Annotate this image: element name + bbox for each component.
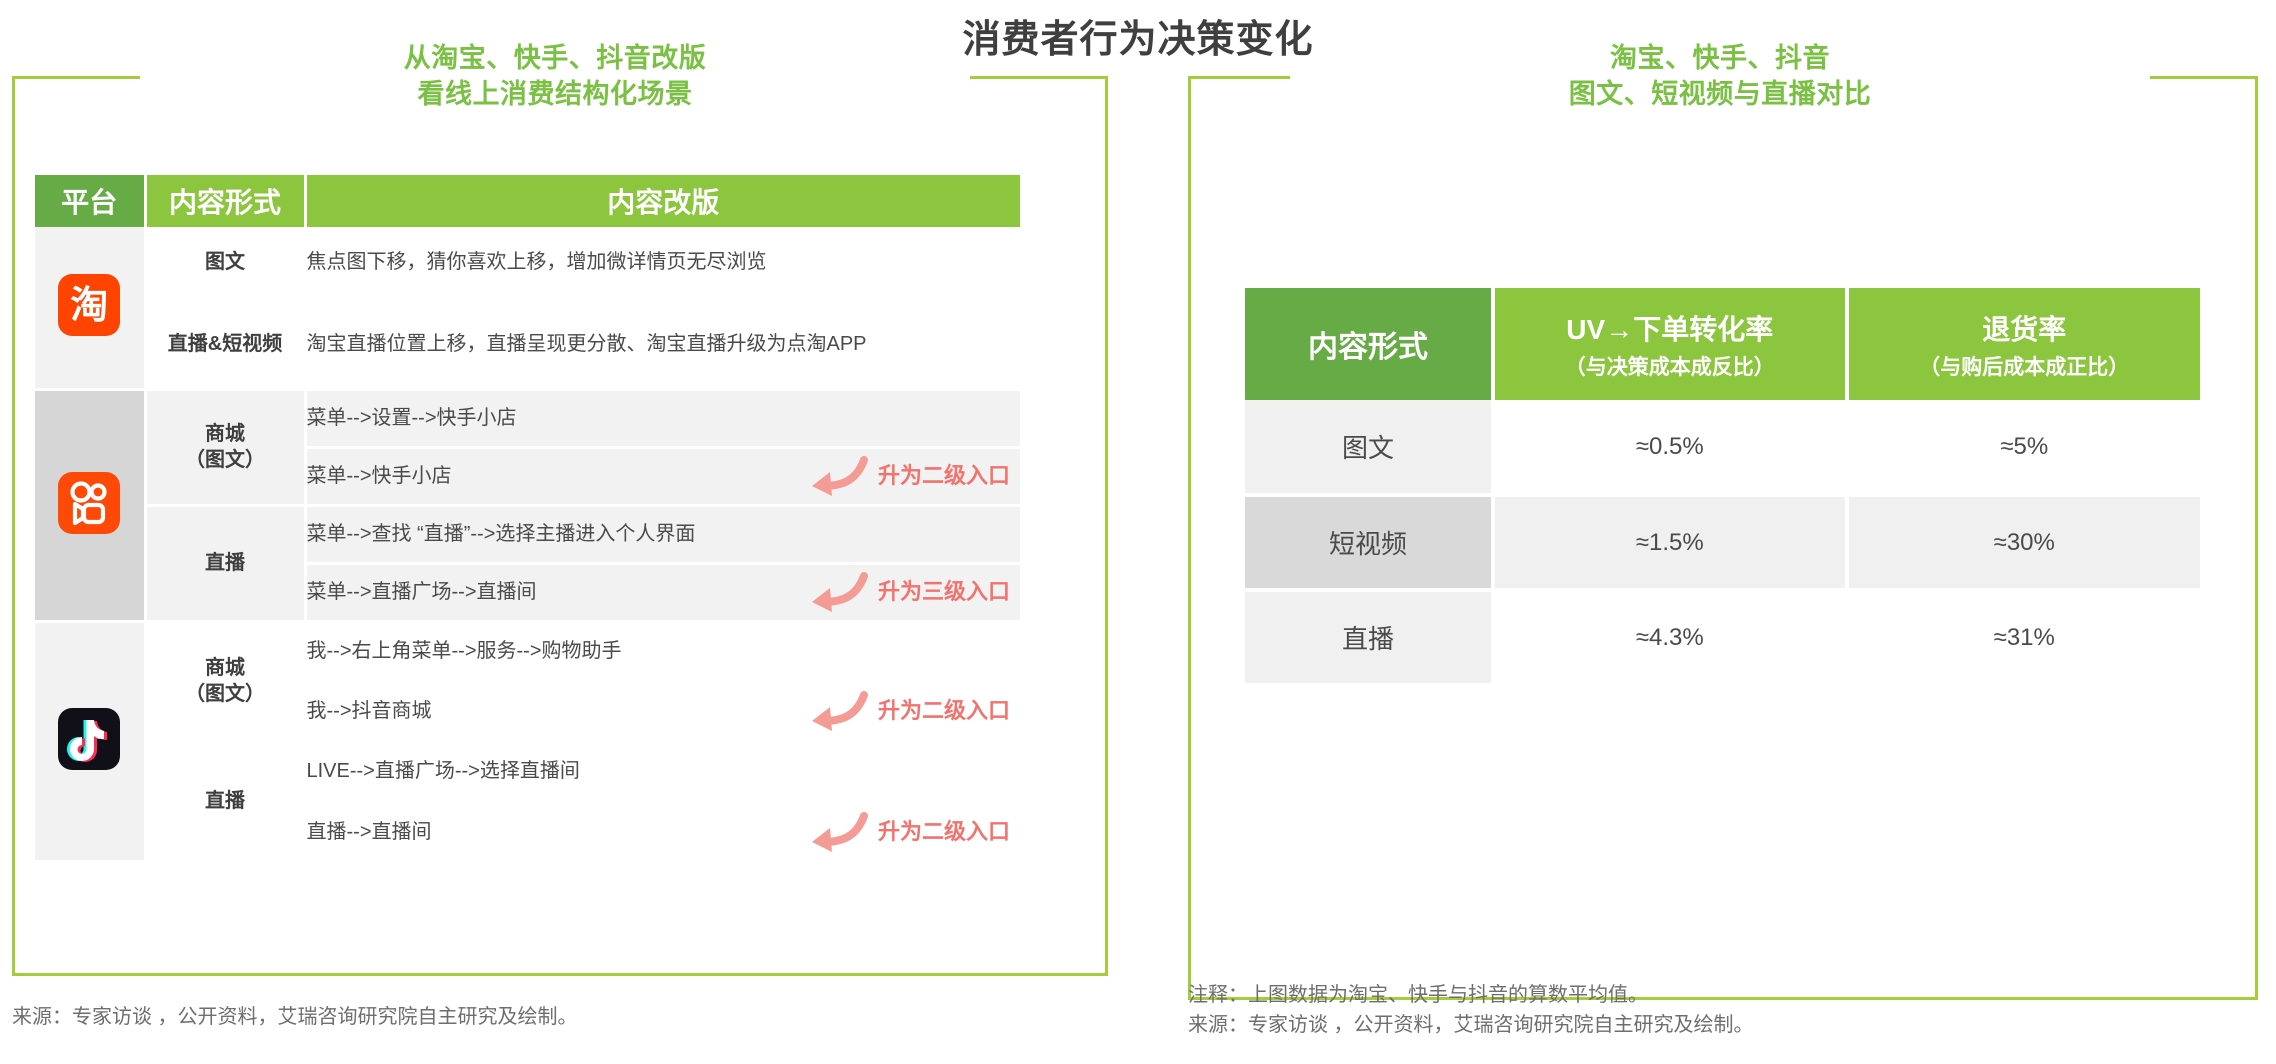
upgrade-annotation-label: 升为三级入口 (878, 577, 1010, 607)
category-cell: 直播 (1245, 590, 1493, 685)
upgrade-annotation: 升为三级入口 (806, 572, 1010, 612)
taobao-icon: 淘 (58, 274, 120, 336)
revision-text: 菜单-->快手小店 (307, 465, 452, 487)
douyin-icon-glyph (58, 708, 120, 770)
platform-cell-douyin (35, 621, 145, 861)
curved-left-arrow-icon (806, 691, 868, 731)
curved-left-arrow-icon (806, 456, 868, 496)
right-panel-footer: 注释：上图数据为淘宝、快手与抖音的算数平均值。 来源：专家访谈 ，公开资料，艾瑞… (1188, 980, 1754, 1040)
content-form-cell: 商城 （图文） (145, 621, 305, 741)
column-header-return-rate-line2: （与购后成本成正比） (1849, 351, 2201, 381)
content-form-cell: 图文 (145, 227, 305, 299)
column-header-content-form: 内容形式 (1245, 288, 1493, 400)
slide-root: 消费者行为决策变化 从淘宝、快手、抖音改版 看线上消费结构化场景 平台 内容形式… (0, 0, 2276, 1064)
curved-left-arrow-icon (806, 812, 868, 852)
conversion-value-cell: ≈4.3% (1493, 590, 1847, 685)
upgrade-annotation: 升为二级入口 (806, 812, 1010, 852)
table-row: 淘 图文 焦点图下移，猜你喜欢上移，增加微详情页无尽浏览 (35, 227, 1020, 299)
upgrade-annotation-label: 升为二级入口 (878, 696, 1010, 726)
platform-cell-taobao: 淘 (35, 227, 145, 389)
revision-text: 直播-->直播间 (307, 821, 432, 843)
return-rate-value-cell: ≈5% (1847, 400, 2201, 495)
table-row: 商城 （图文） 我-->右上角菜单-->服务-->购物助手 (35, 621, 1020, 681)
content-form-cell: 直播 (145, 505, 305, 621)
conversion-value-cell: ≈0.5% (1493, 400, 1847, 495)
column-header-return-rate: 退货率 （与购后成本成正比） (1847, 288, 2201, 400)
column-header-platform: 平台 (35, 175, 145, 227)
upgrade-annotation: 升为二级入口 (806, 456, 1010, 496)
category-cell: 图文 (1245, 400, 1493, 495)
return-rate-value-cell: ≈30% (1847, 495, 2201, 590)
revision-text: 淘宝直播位置上移，直播呈现更分散、淘宝直播升级为点淘APP (307, 333, 867, 355)
upgrade-annotation: 升为二级入口 (806, 691, 1010, 731)
conversion-value-cell: ≈1.5% (1493, 495, 1847, 590)
platform-cell-kuaishou (35, 389, 145, 621)
left-panel-title: 从淘宝、快手、抖音改版 看线上消费结构化场景 (140, 40, 970, 112)
revision-text: 我-->抖音商城 (307, 700, 432, 722)
table-row: 直播 LIVE-->直播广场-->选择直播间 (35, 741, 1020, 801)
upgrade-annotation-label: 升为二级入口 (878, 817, 1010, 847)
return-rate-value-cell: ≈31% (1847, 590, 2201, 685)
content-revision-cell: 淘宝直播位置上移，直播呈现更分散、淘宝直播升级为点淘APP (305, 299, 1020, 389)
table-row: 图文 ≈0.5% ≈5% (1245, 400, 2200, 495)
revision-text: 菜单-->直播广场-->直播间 (307, 581, 537, 603)
column-header-content-revision: 内容改版 (305, 175, 1020, 227)
column-header-return-rate-line1: 退货率 (1849, 308, 2201, 348)
kuaishou-icon (58, 472, 120, 534)
douyin-icon (58, 708, 120, 770)
content-form-cell: 商城 （图文） (145, 389, 305, 505)
table-header-row: 平台 内容形式 内容改版 (35, 175, 1020, 227)
curved-left-arrow-icon (806, 572, 868, 612)
content-revision-cell: 我-->右上角菜单-->服务-->购物助手 (305, 621, 1020, 681)
content-revision-cell: 直播-->直播间 升为二级入口 (305, 801, 1020, 861)
category-cell: 短视频 (1245, 495, 1493, 590)
kuaishou-icon-glyph (58, 472, 120, 534)
table-row: 直播 ≈4.3% ≈31% (1245, 590, 2200, 685)
conversion-comparison-table: 内容形式 UV→下单转化率 （与决策成本成反比） 退货率 （与购后成本成正比） … (1245, 288, 2200, 687)
column-header-conversion-rate: UV→下单转化率 （与决策成本成反比） (1493, 288, 1847, 400)
content-revision-cell: 菜单-->直播广场-->直播间 升为三级入口 (305, 563, 1020, 621)
column-header-conversion-rate-line2: （与决策成本成反比） (1495, 351, 1845, 381)
content-revision-cell: 菜单-->设置-->快手小店 (305, 389, 1020, 447)
table-row: 直播&短视频 淘宝直播位置上移，直播呈现更分散、淘宝直播升级为点淘APP (35, 299, 1020, 389)
content-form-cell: 直播 (145, 741, 305, 861)
column-header-content-form: 内容形式 (145, 175, 305, 227)
content-form-cell: 直播&短视频 (145, 299, 305, 389)
table-row: 短视频 ≈1.5% ≈30% (1245, 495, 2200, 590)
content-revision-cell: LIVE-->直播广场-->选择直播间 (305, 741, 1020, 801)
column-header-conversion-rate-line1: UV→下单转化率 (1495, 308, 1845, 348)
right-panel-title: 淘宝、快手、抖音 图文、短视频与直播对比 (1290, 40, 2150, 112)
content-revision-cell: 菜单-->查找 “直播”-->选择主播进入个人界面 (305, 505, 1020, 563)
content-revision-cell: 我-->抖音商城 升为二级入口 (305, 681, 1020, 741)
content-revision-cell: 焦点图下移，猜你喜欢上移，增加微详情页无尽浏览 (305, 227, 1020, 299)
taobao-icon-glyph: 淘 (58, 274, 120, 336)
platform-revision-table: 平台 内容形式 内容改版 淘 图文 焦点图下移，猜你喜欢上移，增加微详情页无尽浏… (35, 175, 1020, 863)
content-revision-cell: 菜单-->快手小店 升为二级入口 (305, 447, 1020, 505)
table-row: 商城 （图文） 菜单-->设置-->快手小店 (35, 389, 1020, 447)
left-panel-footer: 来源：专家访谈 ，公开资料，艾瑞咨询研究院自主研究及绘制。 (12, 1002, 578, 1032)
upgrade-annotation-label: 升为二级入口 (878, 461, 1010, 491)
table-row: 直播 菜单-->查找 “直播”-->选择主播进入个人界面 (35, 505, 1020, 563)
table-header-row: 内容形式 UV→下单转化率 （与决策成本成反比） 退货率 （与购后成本成正比） (1245, 288, 2200, 400)
